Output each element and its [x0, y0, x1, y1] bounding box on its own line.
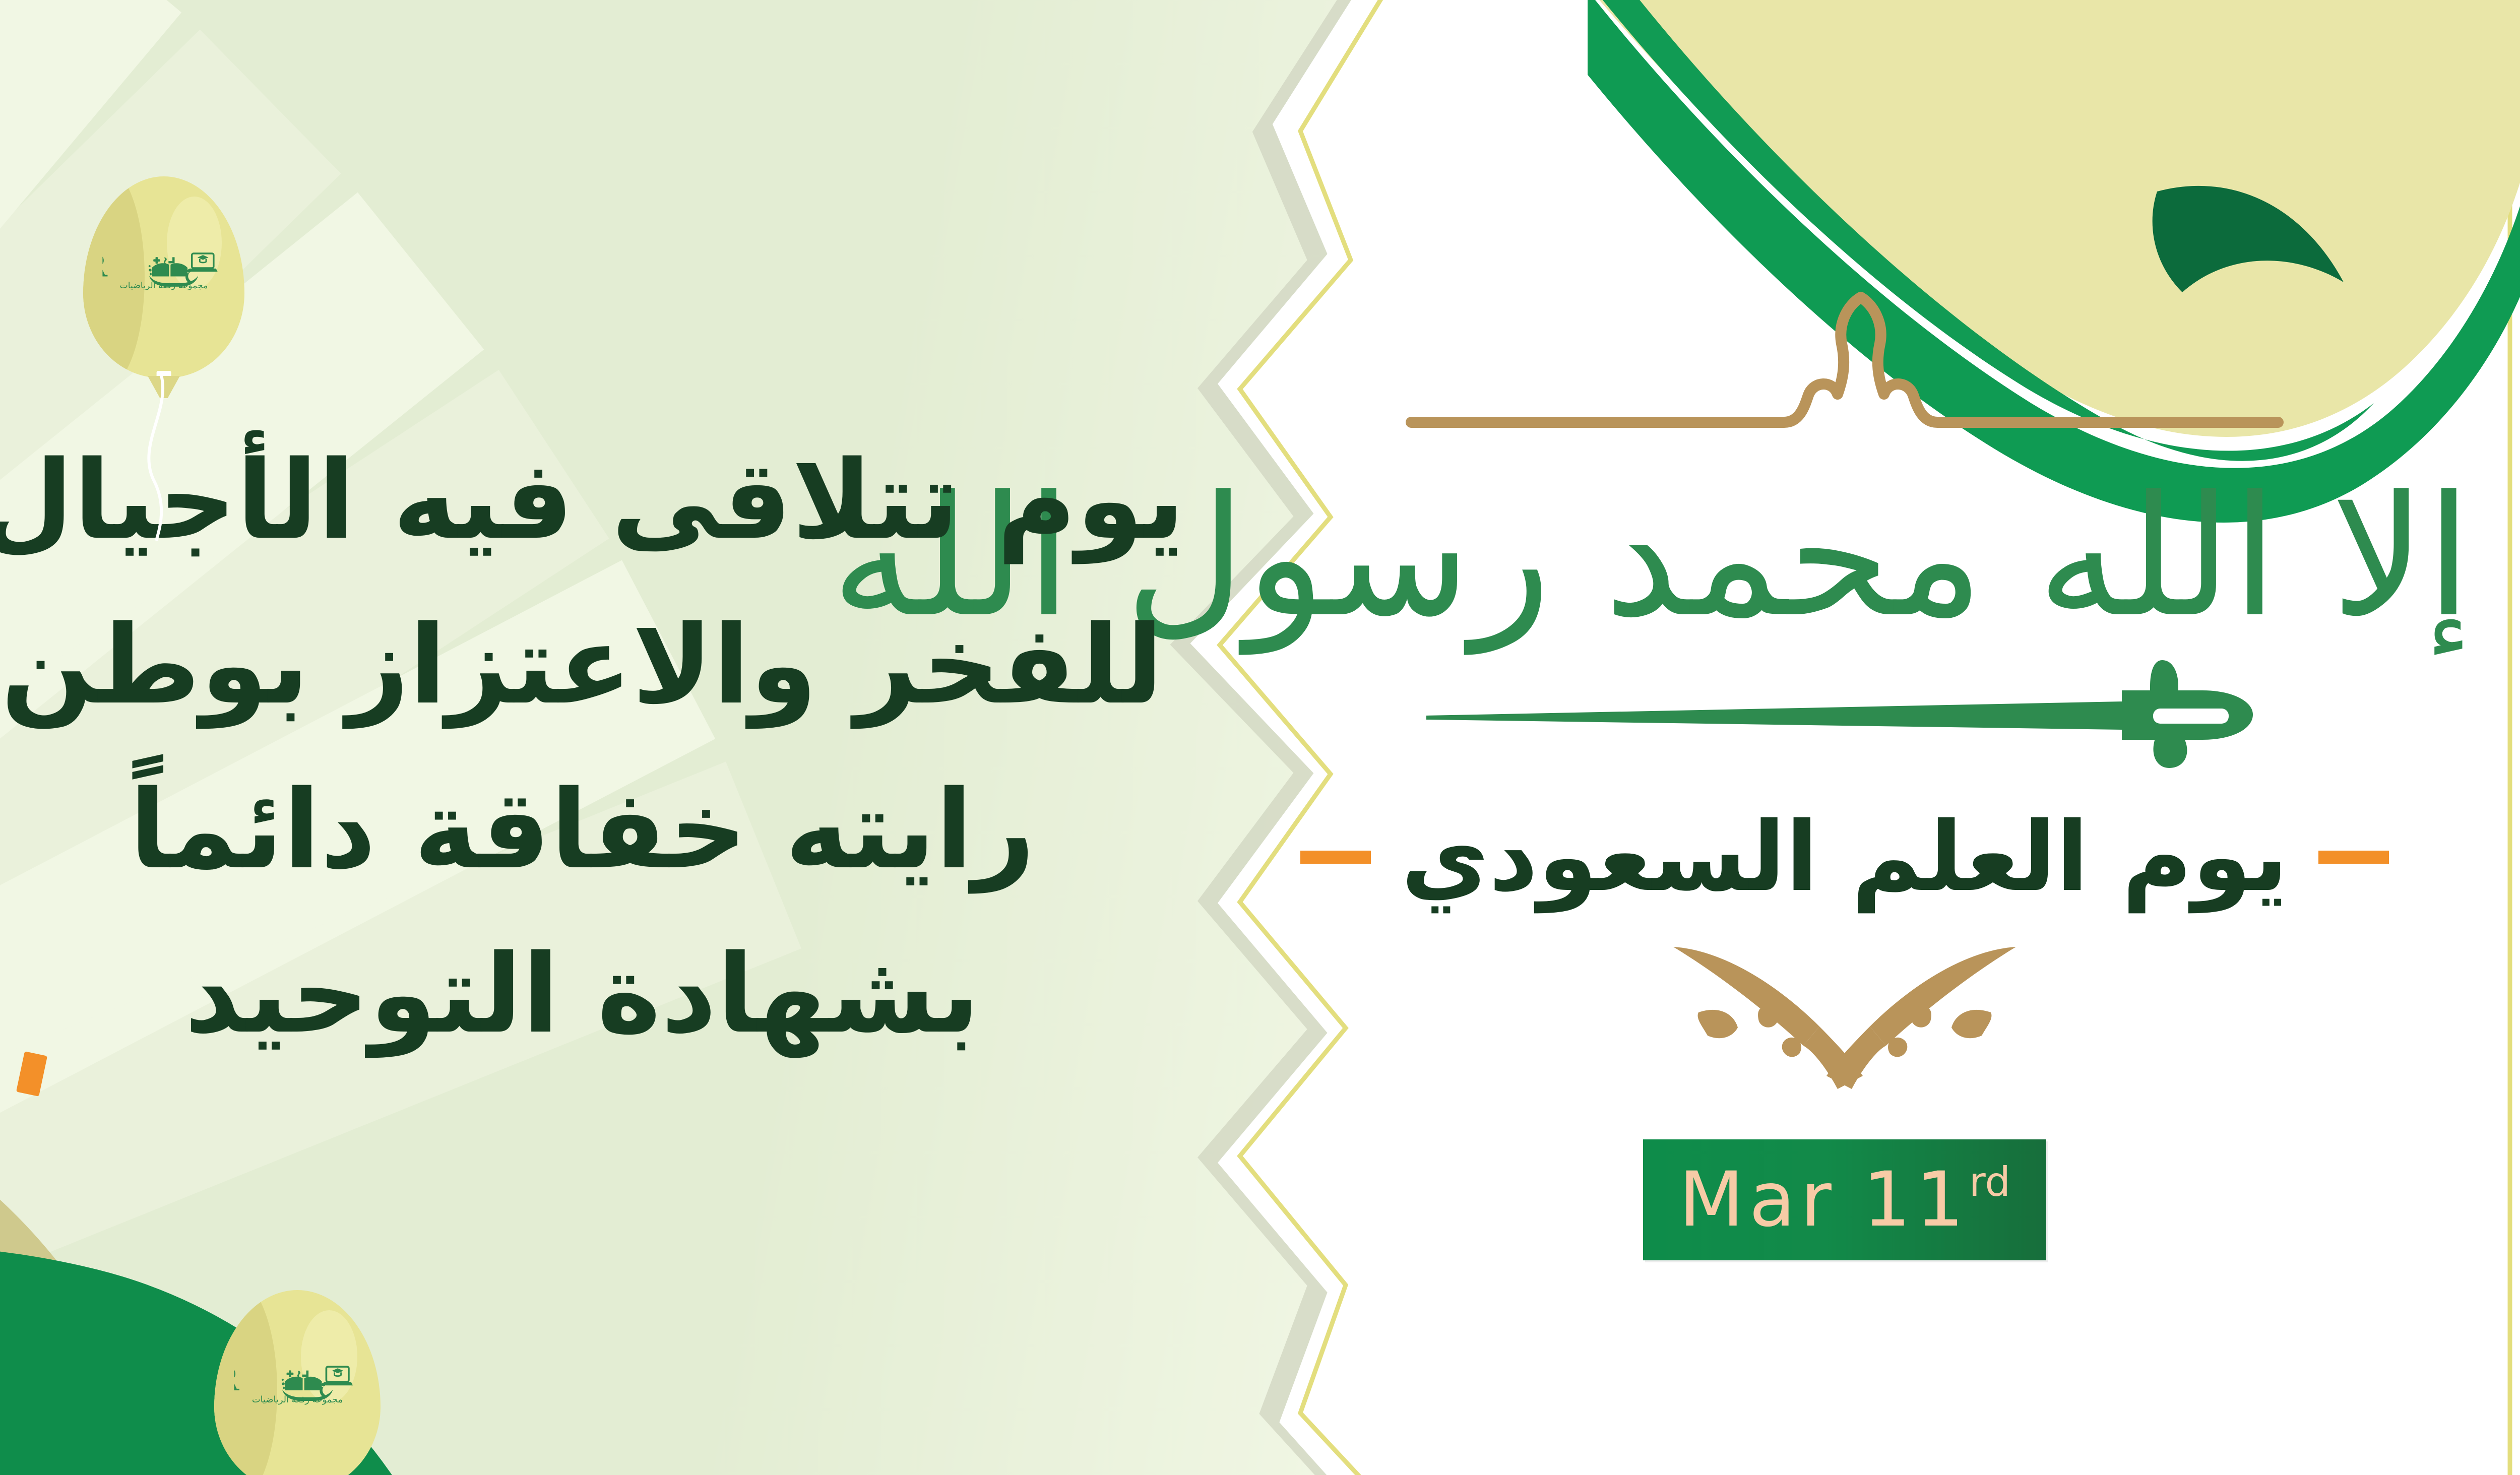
dash-right [1300, 851, 1371, 864]
flag-day-label: يوم العلم السعودي [1401, 801, 2288, 913]
balloon-body [83, 176, 244, 378]
dash-left [2318, 851, 2389, 864]
date-badge-text: Mar 11 rd [1679, 1156, 2010, 1244]
balloon-string-top-center [131, 375, 202, 542]
mosque-dome-icon [1401, 287, 2288, 438]
balloon-body [214, 1290, 381, 1475]
headline-line-4: بشهادة التوحيد [0, 912, 1275, 1077]
emblem-group: لا إله إلا الله محمد رسول الله يوم العلم… [1295, 287, 2394, 1325]
headline-line-2: للفخر والاعتزاز بوطن [0, 583, 1275, 748]
date-month: Mar [1679, 1156, 1837, 1244]
headline-line-3: رايته خفاقة دائماً [0, 748, 1275, 913]
flag-day-row: يوم العلم السعودي [1366, 801, 2323, 913]
balloon-gloss [301, 1310, 357, 1403]
date-badge: Mar 11 rd [1643, 1139, 2046, 1260]
crossed-swords-icon [1643, 938, 2046, 1104]
saudi-flag-day-banner: لا إله إلا الله محمد رسول الله يوم العلم… [0, 0, 2520, 1475]
saudi-sword-icon [1416, 655, 2273, 771]
balloon-top-center: R [83, 176, 244, 378]
date-ordinal: rd [1969, 1162, 2010, 1202]
balloon-gloss [167, 197, 222, 289]
date-day: 11 [1863, 1156, 1969, 1244]
balloon-bottom-center: R [214, 1290, 381, 1475]
